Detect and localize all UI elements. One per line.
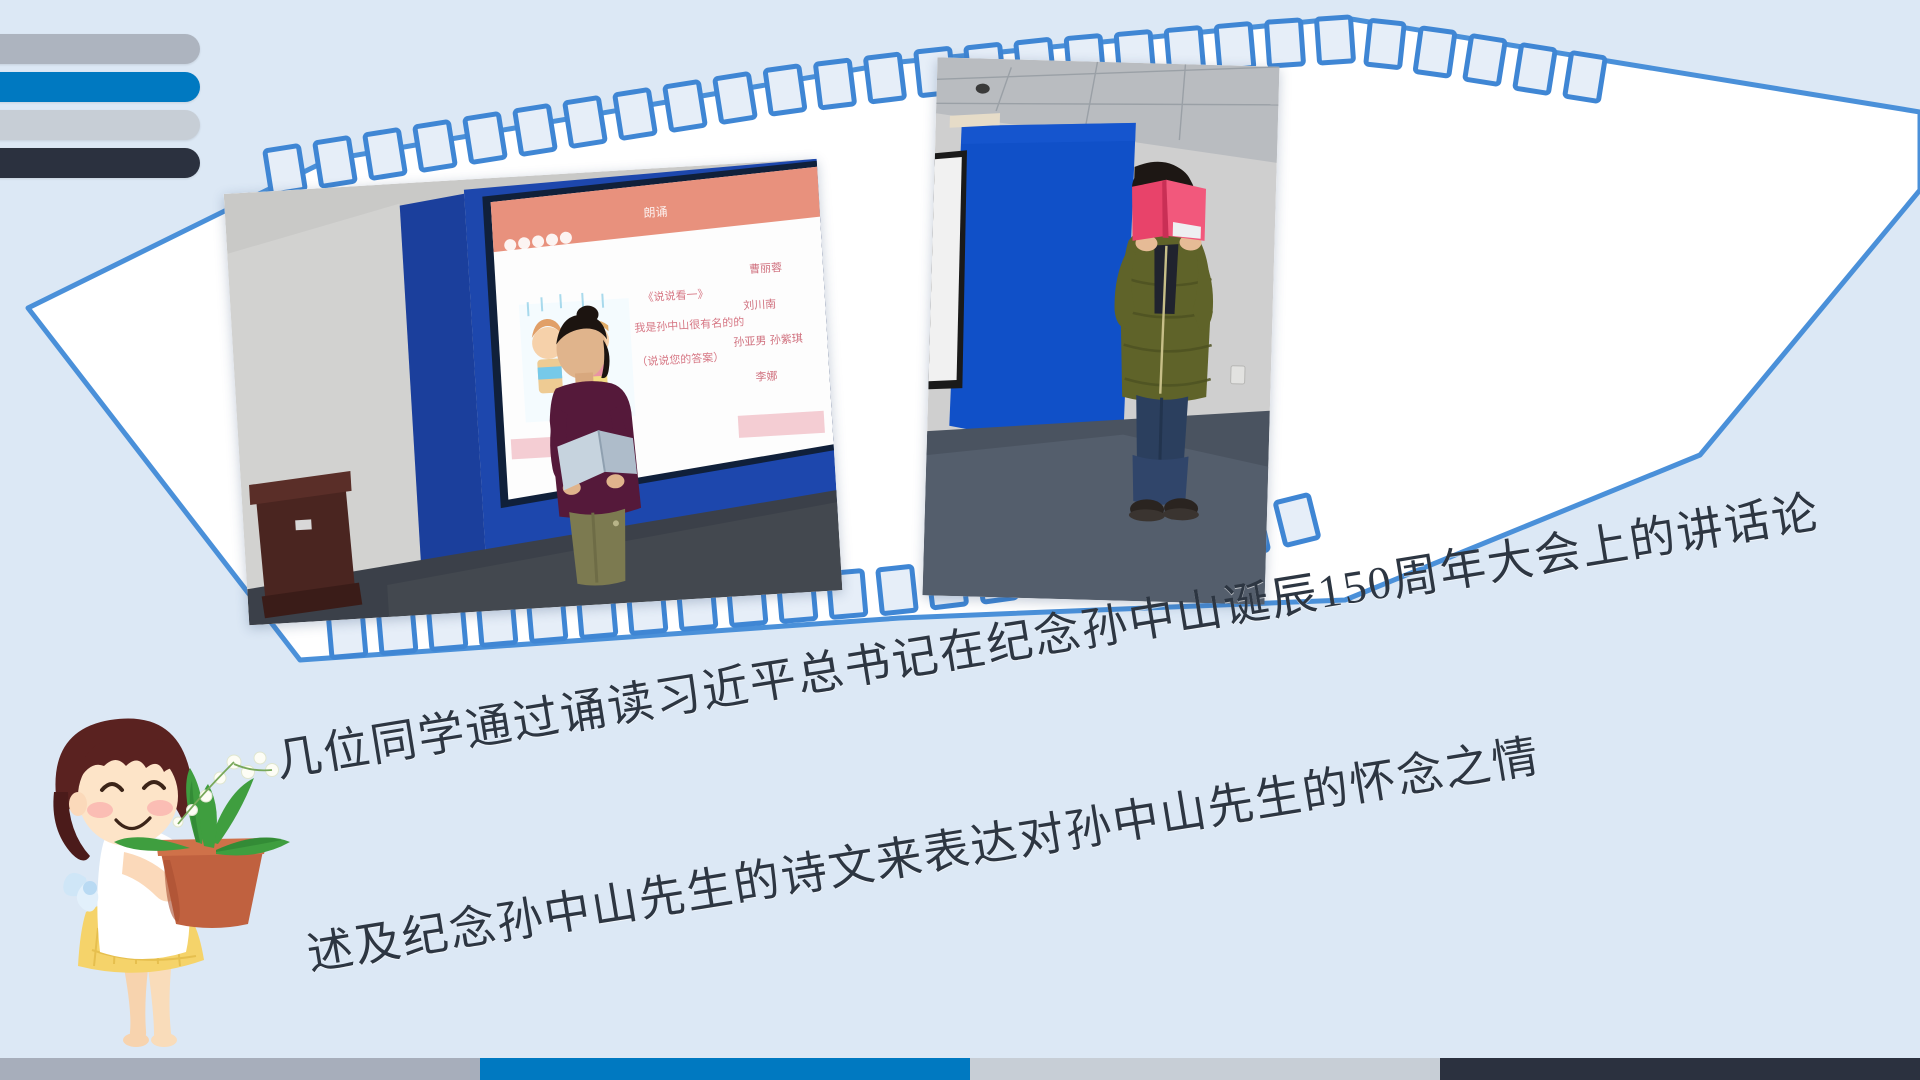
- svg-text:朗诵: 朗诵: [643, 205, 668, 220]
- svg-text:刘川南: 刘川南: [743, 297, 777, 312]
- bottom-color-strip: [0, 1058, 1920, 1080]
- girl-with-flowerpot-illustration: [20, 700, 290, 1050]
- svg-text:李娜: 李娜: [755, 368, 778, 383]
- bottom-segment-gray-light: [970, 1058, 1440, 1080]
- bottom-segment-blue: [480, 1058, 970, 1080]
- bottom-segment-dark: [1440, 1058, 1920, 1080]
- slide-canvas: 朗诵: [0, 0, 1920, 1080]
- svg-text:曹丽蓉: 曹丽蓉: [749, 261, 783, 276]
- bottom-segment-gray: [0, 1058, 480, 1080]
